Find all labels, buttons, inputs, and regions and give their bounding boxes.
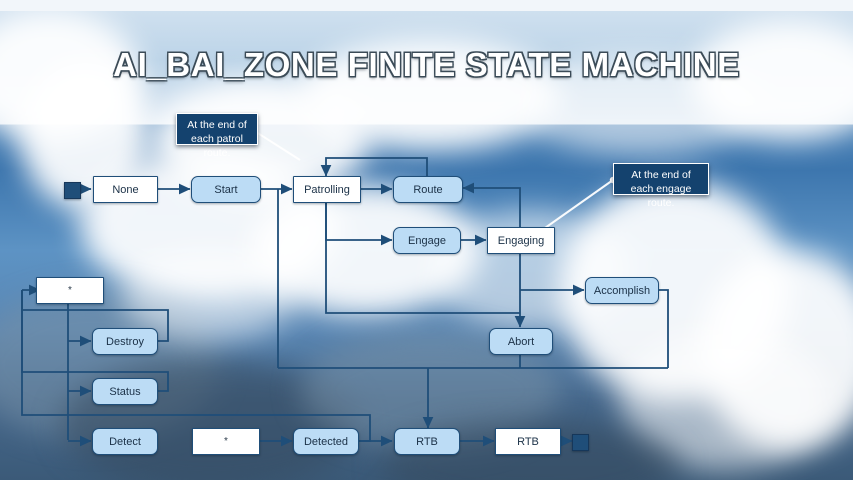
state-label: Accomplish bbox=[594, 285, 650, 297]
state-node-rtb-blue[interactable]: RTB bbox=[394, 428, 460, 455]
state-node-none[interactable]: None bbox=[93, 176, 158, 203]
state-label: Engage bbox=[408, 235, 446, 247]
state-label: Start bbox=[214, 184, 237, 196]
state-node-engaging[interactable]: Engaging bbox=[487, 227, 555, 254]
state-node-destroy[interactable]: Destroy bbox=[92, 328, 158, 355]
state-node-status[interactable]: Status bbox=[92, 378, 158, 405]
initial-state-marker bbox=[64, 182, 81, 199]
state-label: Detect bbox=[109, 436, 141, 448]
state-node-any-left[interactable]: * bbox=[36, 277, 104, 304]
state-label: * bbox=[224, 436, 228, 447]
state-label: Abort bbox=[508, 336, 534, 348]
state-node-rtb-white[interactable]: RTB bbox=[495, 428, 561, 455]
state-label: Destroy bbox=[106, 336, 144, 348]
callout-engage-route: At the end of each engage route. bbox=[613, 163, 709, 195]
state-node-abort[interactable]: Abort bbox=[489, 328, 553, 355]
state-node-any-bottom[interactable]: * bbox=[192, 428, 260, 455]
callout-line-2: each engage route. bbox=[620, 182, 702, 210]
state-label: * bbox=[68, 285, 72, 296]
state-node-start[interactable]: Start bbox=[191, 176, 261, 203]
callout-line-1: At the end of bbox=[620, 168, 702, 182]
state-label: RTB bbox=[517, 436, 539, 448]
state-label: Engaging bbox=[498, 235, 545, 247]
state-node-accomplish[interactable]: Accomplish bbox=[585, 277, 659, 304]
slide-canvas: AI_BAI_ZONE FINITE STATE MACHINE bbox=[0, 0, 853, 480]
state-node-patrolling[interactable]: Patrolling bbox=[293, 176, 361, 203]
callout-patrol-route: At the end of each patrol route. bbox=[176, 113, 258, 145]
final-state-marker bbox=[572, 434, 589, 451]
state-label: Status bbox=[109, 386, 140, 398]
state-node-engage[interactable]: Engage bbox=[393, 227, 461, 254]
state-label: None bbox=[112, 184, 138, 196]
state-label: Route bbox=[413, 184, 442, 196]
state-label: Detected bbox=[304, 436, 348, 448]
state-node-detected[interactable]: Detected bbox=[293, 428, 359, 455]
state-label: Patrolling bbox=[304, 184, 350, 196]
callout-line-1: At the end of bbox=[183, 118, 251, 132]
state-node-route[interactable]: Route bbox=[393, 176, 463, 203]
state-node-detect[interactable]: Detect bbox=[92, 428, 158, 455]
state-label: RTB bbox=[416, 436, 438, 448]
callout-line-2: each patrol route. bbox=[183, 132, 251, 160]
